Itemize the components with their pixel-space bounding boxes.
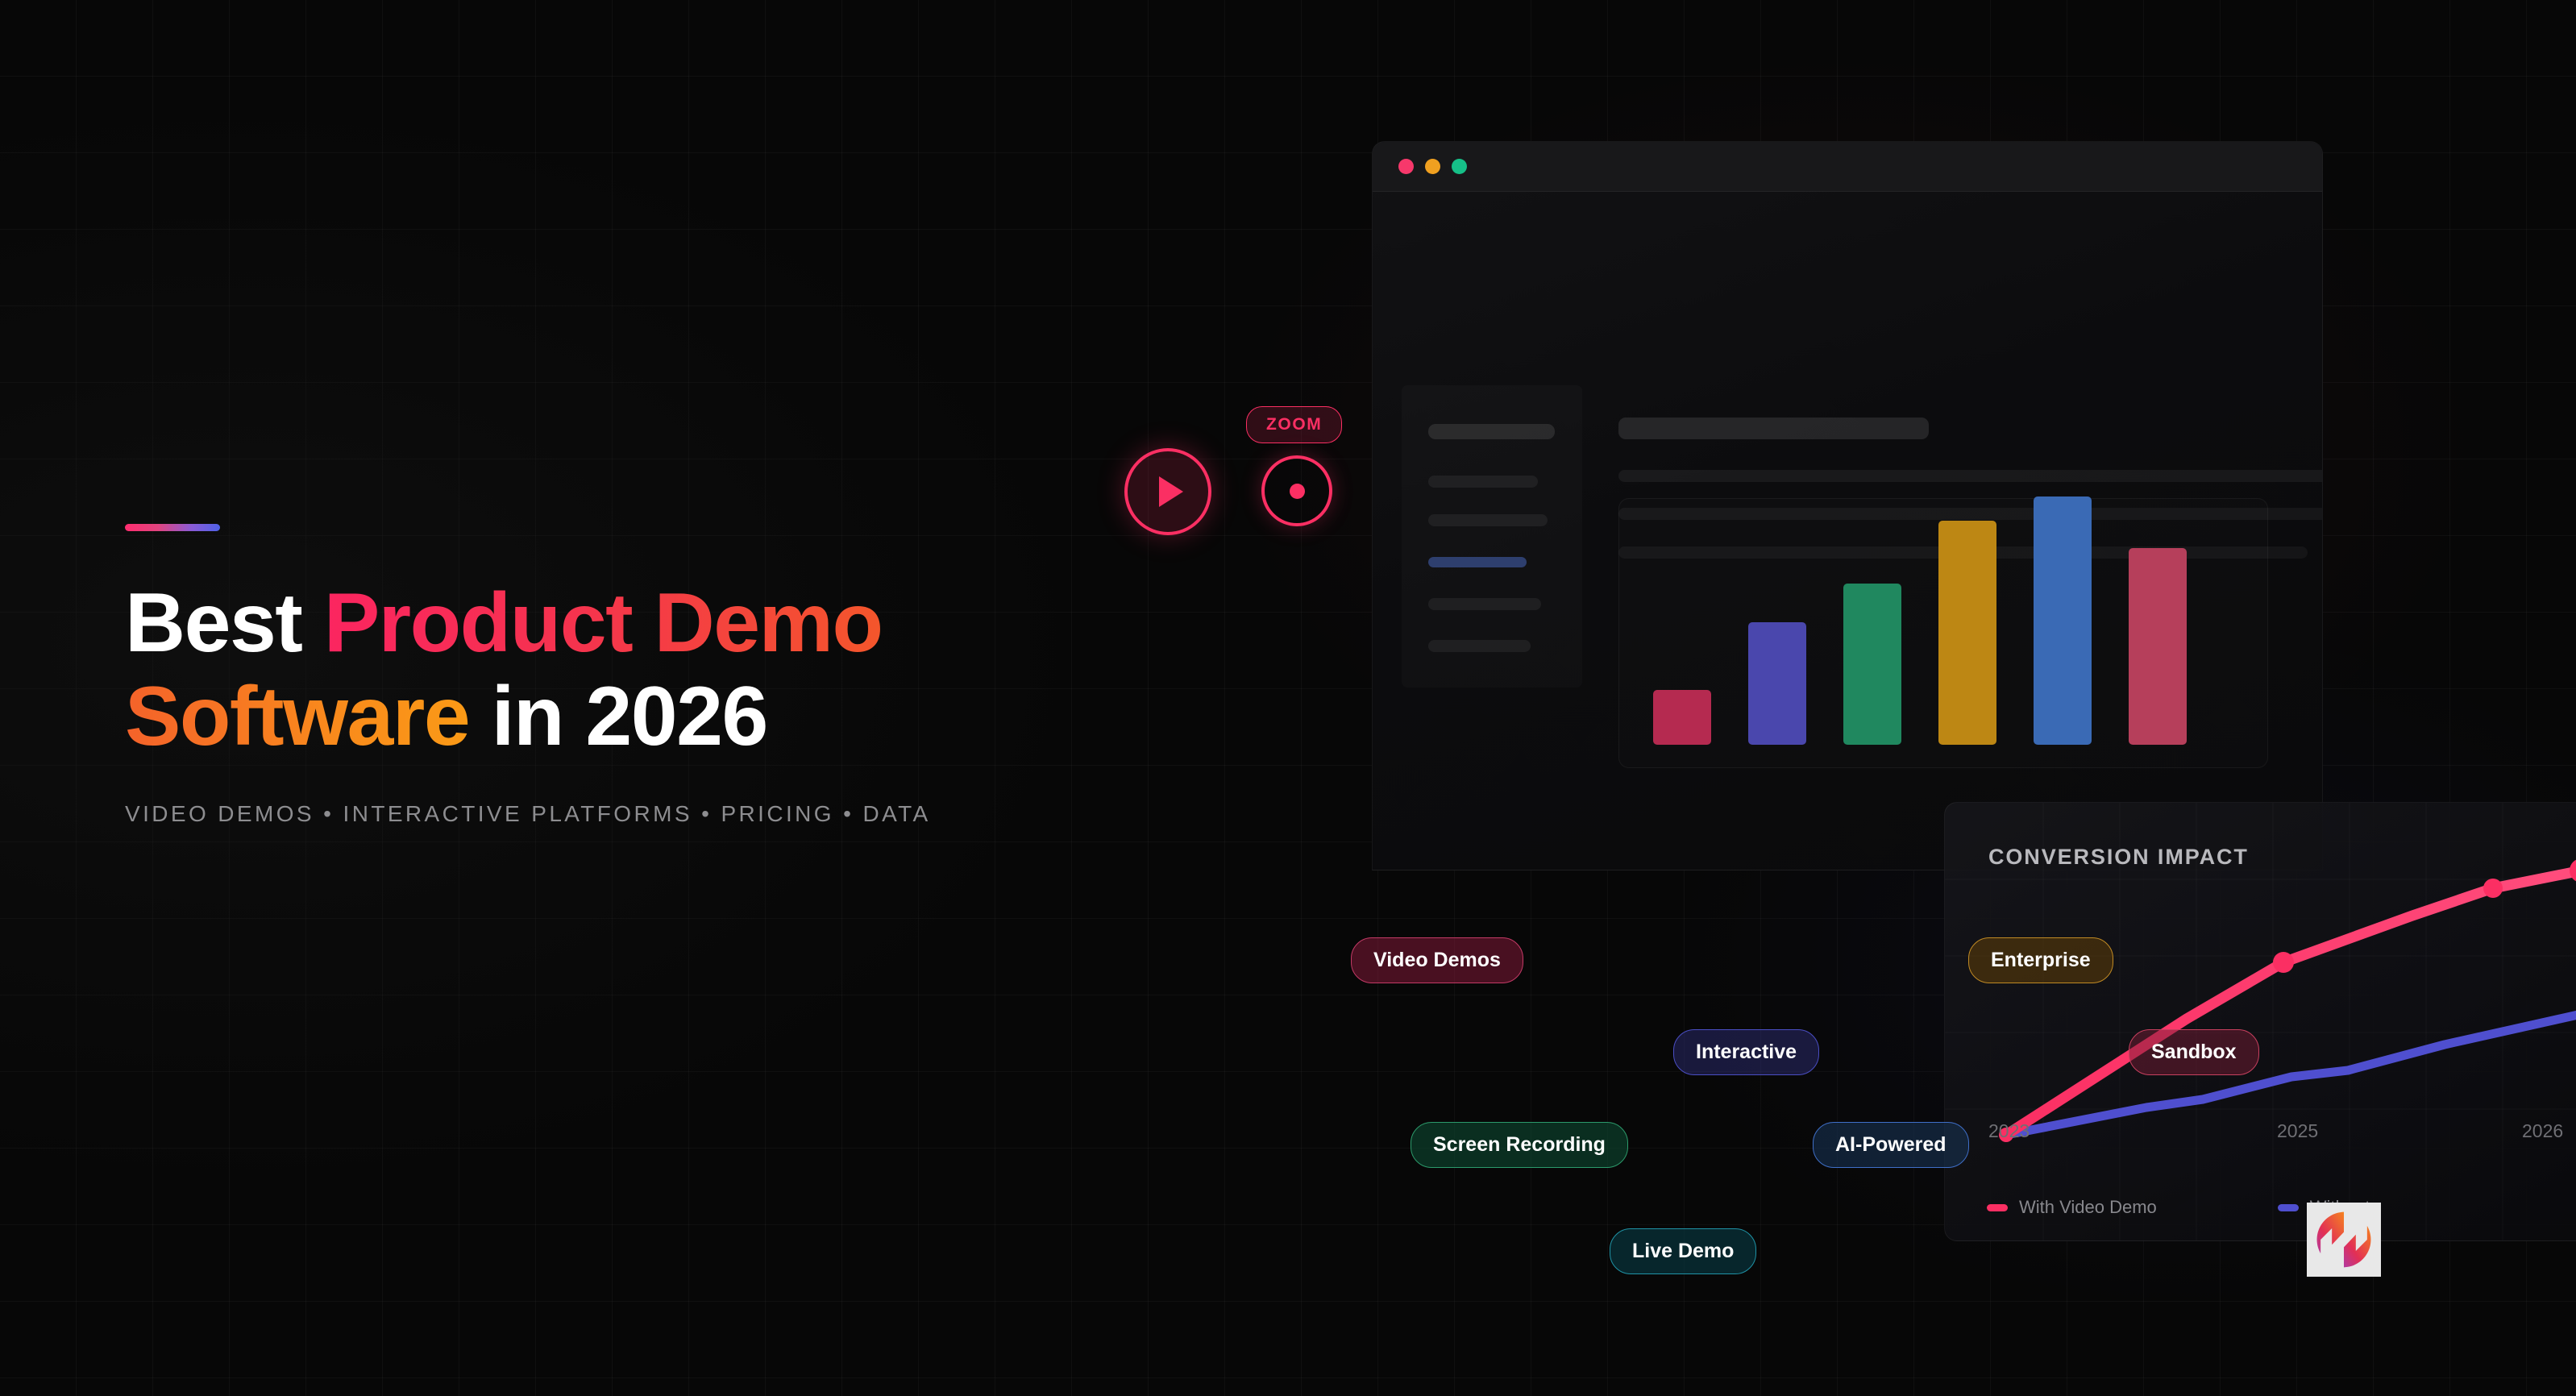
bar-2 [1748,622,1806,745]
zoom-badge[interactable]: ZOOM [1246,406,1342,443]
record-button-icon[interactable] [1261,455,1332,526]
headline-part-best: Best [125,576,324,670]
bar-3 [1843,584,1901,745]
x-tick-2026: 2026 [2522,1120,2563,1142]
headline-part-product-demo: Product Demo [324,576,883,670]
page-title: Best Product Demo Software in 2026 [125,576,1132,764]
mock-text-bar [1618,470,2323,482]
data-point [2273,952,2294,973]
mock-sidebar-item [1428,598,1541,610]
mock-sidebar-item-active [1428,557,1527,567]
mock-bar-chart [1618,498,2268,768]
headline-part-year: in 2026 [469,670,767,763]
browser-titlebar [1373,142,2322,192]
hero-section: Best Product Demo Software in 2026 VIDEO… [125,524,1132,827]
browser-content [1373,192,2322,870]
data-point [2483,879,2503,898]
browser-mockup [1372,141,2323,870]
bar-1 [1653,690,1711,745]
minimize-icon[interactable] [1425,159,1440,174]
legend-label: With Video Demo [2019,1197,2157,1218]
bar-6 [2129,548,2187,745]
pill-interactive[interactable]: Interactive [1673,1029,1819,1075]
pill-sandbox[interactable]: Sandbox [2129,1029,2259,1075]
play-triangle-icon [1159,476,1183,507]
mock-sidebar-item [1428,424,1555,439]
maximize-icon[interactable] [1452,159,1467,174]
pill-ai-powered[interactable]: AI-Powered [1813,1122,1969,1168]
x-tick-2023: 2023 [1988,1120,2030,1142]
headline-part-software: Software [125,670,469,763]
bar-5 [2034,496,2092,745]
legend-swatch-icon [2278,1204,2299,1211]
legend-item-with-video: With Video Demo [1987,1197,2157,1218]
hero-kicker: VIDEO DEMOS • INTERACTIVE PLATFORMS • PR… [125,801,1132,827]
pill-enterprise[interactable]: Enterprise [1968,937,2113,983]
logo-glyph-icon [2312,1208,2375,1271]
mock-heading-bar [1618,418,1929,439]
x-tick-2025: 2025 [2277,1120,2318,1142]
accent-bar [125,524,220,531]
nitro-n-logo [2307,1203,2381,1277]
conversion-line-chart [1945,803,2576,1241]
close-icon[interactable] [1398,159,1414,174]
bar-4 [1938,521,1996,745]
mock-sidebar-item [1428,476,1538,488]
pill-video-demos[interactable]: Video Demos [1351,937,1523,983]
record-dot-icon [1290,484,1305,499]
pill-screen-recording[interactable]: Screen Recording [1411,1122,1628,1168]
mock-sidebar-item [1428,514,1548,526]
series-with-video-line [2006,870,2576,1135]
conversion-impact-panel: CONVERSION IMPACT [1944,802,2576,1241]
pill-live-demo[interactable]: Live Demo [1610,1228,1756,1274]
mock-sidebar-item [1428,640,1531,652]
legend-swatch-icon [1987,1204,2008,1211]
play-button-icon[interactable] [1124,448,1211,535]
